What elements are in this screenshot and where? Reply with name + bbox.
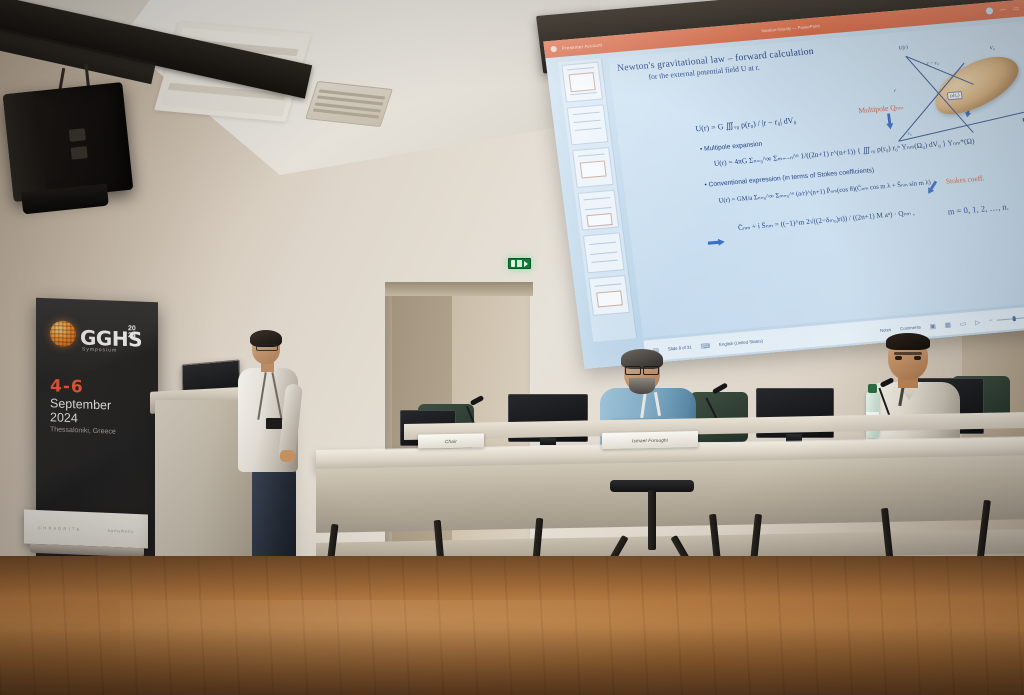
slide-thumbnail[interactable] [567, 104, 609, 145]
water-bottle-cap [868, 384, 877, 393]
minimize-icon[interactable]: — [1000, 6, 1007, 12]
presenter-glasses-icon [256, 344, 278, 351]
slide-canvas: Newton's gravitational law – forward cal… [608, 21, 1024, 338]
slide-thumbnail[interactable] [578, 190, 620, 231]
language-label: English (United States) [719, 338, 763, 347]
seated-panelist-2 [868, 336, 964, 448]
density-label: ρ(r₀) [947, 91, 963, 100]
zoom-slider[interactable]: − + [989, 313, 1024, 324]
wall-alcove-lintel [385, 282, 533, 296]
lecture-hall-photo: ⬤ Presenter Account Newton-Gravity — Pow… [0, 0, 1024, 695]
panelist-1-beard [629, 378, 655, 394]
banner-sponsor-strip: C H R A D R I T E bathymetry [24, 510, 148, 549]
presenter-badge [266, 418, 282, 429]
name-placard-center: Ismael Foroughi [602, 431, 698, 449]
panelist-2-eye-right [914, 356, 921, 360]
slide-count-label: Slide 8 of 31 [668, 344, 692, 351]
projection-screen: ⬤ Presenter Account Newton-Gravity — Pow… [543, 0, 1024, 369]
slide-thumbnail[interactable] [583, 232, 625, 273]
office-chair-column [648, 490, 656, 550]
irregular-body-potato-icon [925, 45, 1024, 124]
arrow-right-icon [707, 238, 725, 246]
ceiling-loudspeaker [3, 82, 134, 202]
equation-cnm-snm: C̄ₙₘ + i S̄ₙₘ = ((−1)^m 2√((2−δₘ₀)π)) / … [738, 208, 915, 232]
equation-newton-integral: U(r) = G ∭ᵥ₀ ρ(r₀) / |r − r₀| dV₀ [695, 116, 797, 134]
panelist-1-glasses-icon [625, 366, 659, 373]
language-icon[interactable]: ⌨ [700, 341, 710, 350]
panelist-2-brow [894, 352, 922, 355]
presenter-hand [280, 450, 295, 462]
m-range-label: m = 0, 1, 2, …, n. [947, 201, 1009, 216]
bullet-multipole-expansion: • Multipole expansion [700, 141, 763, 153]
slide-thumbnail[interactable] [561, 62, 603, 103]
speaker-grille-icon-2 [71, 146, 88, 160]
sorter-view-icon[interactable]: ▦ [944, 320, 951, 328]
exit-running-man-icon [511, 260, 515, 267]
avatar[interactable] [986, 7, 994, 15]
banner-subtitle: Symposium [82, 346, 117, 353]
panelist-2-hair [886, 333, 930, 350]
diagram-label-r: r [894, 89, 897, 94]
foreground-shadow [0, 620, 1024, 695]
annotation-stokes-coeff: Stokes coeff. [945, 173, 984, 185]
banner-year-badge: 2024 [128, 325, 136, 339]
diagram-label-potential: U(r) [899, 46, 908, 52]
maximize-icon[interactable]: ▭ [1013, 5, 1020, 12]
gghs-globe-logo-icon [50, 320, 76, 347]
ceiling-air-vent [305, 81, 393, 127]
banner-month-year: September2024 [50, 396, 111, 426]
app-title: Newton-Gravity — PowerPoint [761, 23, 820, 33]
account-name: Presenter Account [562, 42, 603, 50]
presenter-at-podium [236, 332, 302, 588]
speaker-grille-icon [69, 128, 86, 142]
exit-arrow-icon [524, 261, 528, 267]
panelist-2-eye-left [895, 356, 902, 360]
diagram-label-volume: V₀ [989, 46, 994, 51]
normal-view-icon[interactable]: ▣ [929, 322, 936, 330]
name-placard-left: Chair [418, 433, 484, 448]
exit-sign [508, 258, 531, 269]
sponsor-logo-2: bathymetry [108, 527, 134, 533]
reading-view-icon[interactable]: ▭ [959, 319, 966, 327]
diagram-label-r0: r₀ [907, 132, 911, 137]
sponsor-logo-1: C H R A D R I T E [38, 525, 80, 532]
panel-table-front-panel [316, 455, 1024, 533]
notes-button[interactable]: Notes [880, 327, 892, 333]
slideshow-icon[interactable]: ▷ [975, 318, 981, 326]
slide-thumbnail[interactable] [572, 147, 614, 188]
comments-button[interactable]: Comments [900, 324, 921, 331]
autosave-toggle-icon[interactable]: ⬤ [550, 45, 558, 53]
banner-dates: 4-6 [50, 376, 84, 397]
zoom-out-icon[interactable]: − [989, 317, 994, 324]
irregular-body-diagram: ρ(r₀) U(r) V₀ r r₀ r − r₀ [870, 25, 1024, 158]
monitor-stand [540, 438, 556, 445]
floor-shadow-band [0, 556, 1024, 598]
exit-door-icon [517, 260, 522, 267]
slide-thumbnail[interactable] [588, 275, 630, 316]
